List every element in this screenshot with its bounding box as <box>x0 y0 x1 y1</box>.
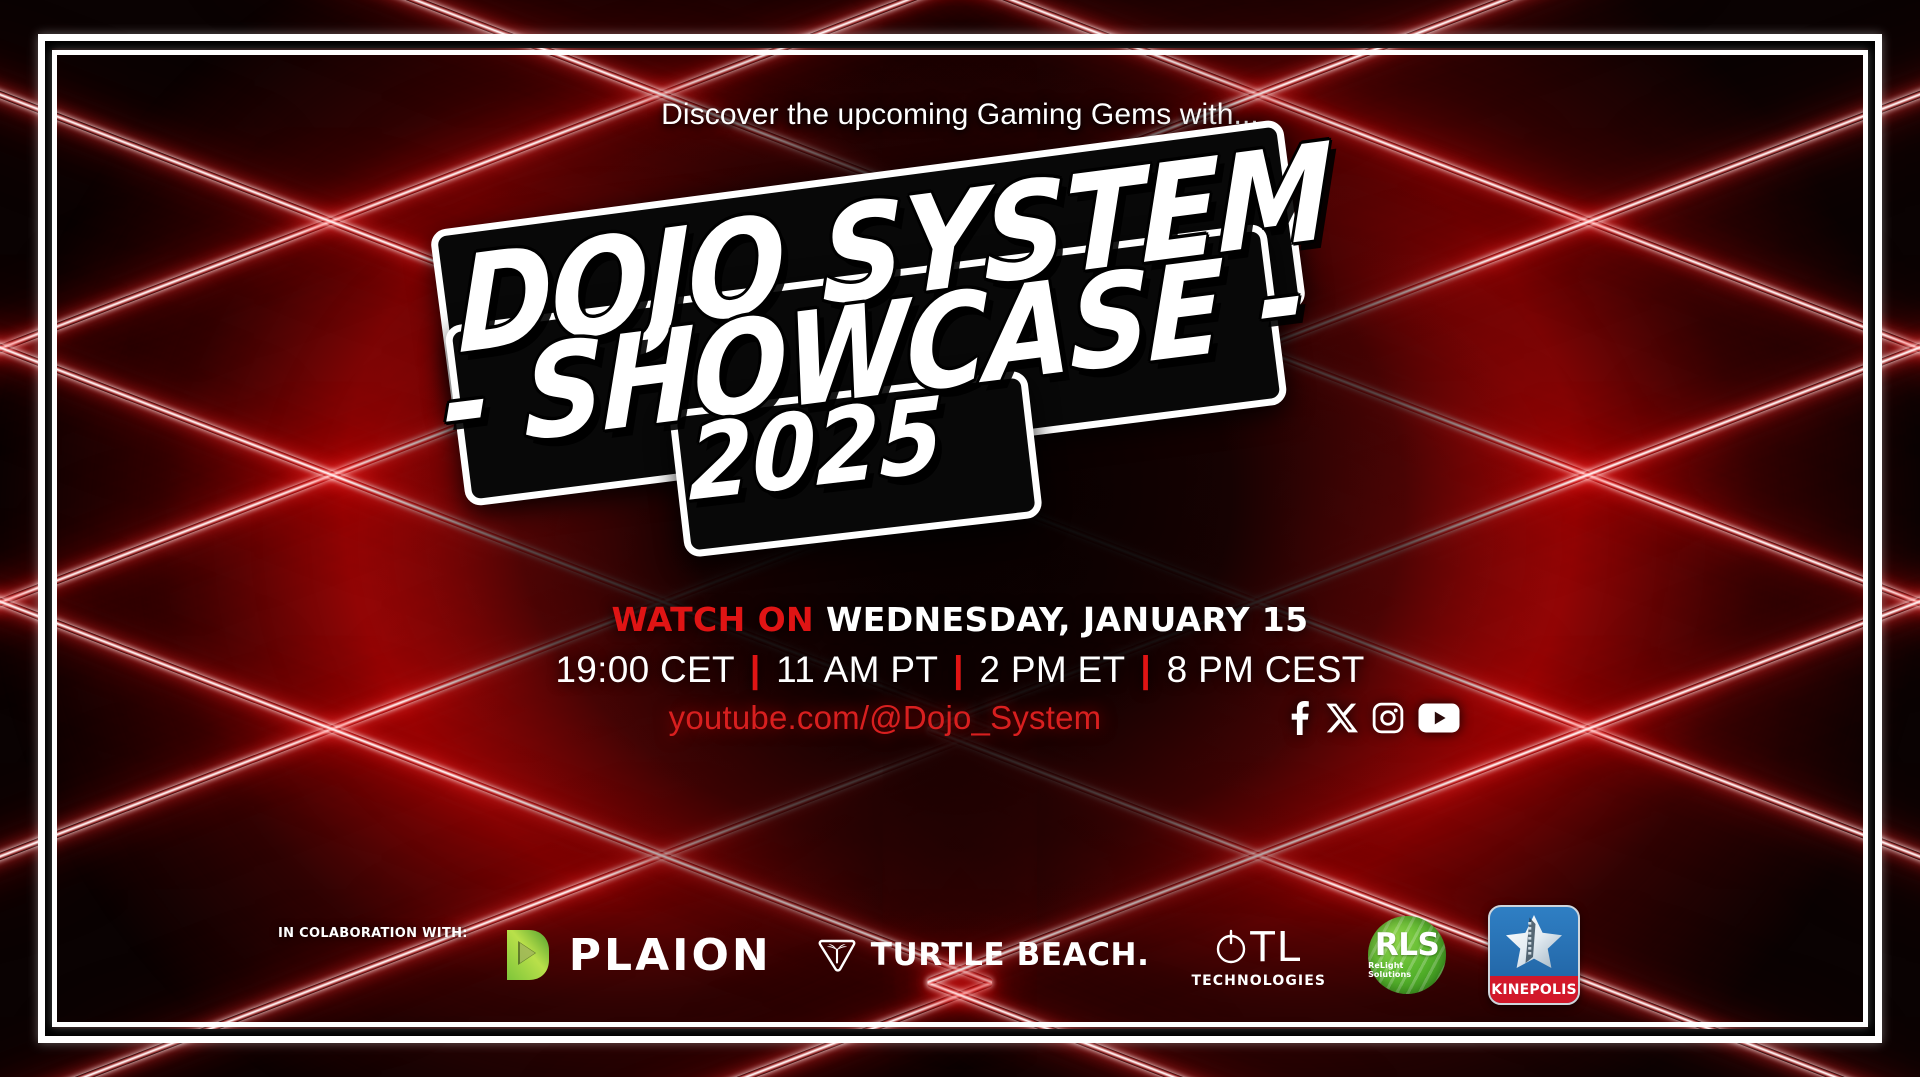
turtle-beach-wordmark: TURTLE BEACH. <box>871 937 1150 973</box>
tagline: Discover the upcoming Gaming Gems with..… <box>661 98 1259 132</box>
time-separator-3: | <box>1135 649 1156 690</box>
poster-stage: Discover the upcoming Gaming Gems with..… <box>0 0 1920 1077</box>
partner-logos: PLAION TURTLE BEACH. <box>498 905 1580 1005</box>
time-separator-2: | <box>948 649 969 690</box>
poster-content: Discover the upcoming Gaming Gems with..… <box>0 0 1920 1077</box>
instagram-icon[interactable] <box>1372 702 1404 734</box>
url-and-socials-row: youtube.com/@Dojo_System <box>430 699 1490 737</box>
time-et: 2 PM ET <box>979 649 1124 690</box>
kinepolis-name-bar: KINEPOLIS <box>1490 976 1578 1003</box>
watch-date: WEDNESDAY, JANUARY 15 <box>826 600 1309 639</box>
youtube-icon[interactable] <box>1418 703 1460 733</box>
watch-line: WATCH ON WEDNESDAY, JANUARY 15 <box>611 600 1308 639</box>
time-separator-1: | <box>745 649 766 690</box>
rls-subtitle: ReLight Solutions <box>1368 961 1446 979</box>
timezone-line: 19:00 CET | 11 AM PT | 2 PM ET | 8 PM CE… <box>555 649 1364 691</box>
kinepolis-star-icon <box>1503 913 1565 971</box>
collaboration-heading: IN COLABORATION WITH: <box>278 926 468 941</box>
partner-logo-plaion[interactable]: PLAION <box>498 927 772 983</box>
time-cest: 8 PM CEST <box>1167 649 1365 690</box>
otl-letters: TL <box>1249 922 1302 972</box>
turtle-beach-mark-icon <box>814 932 860 978</box>
x-icon[interactable] <box>1326 702 1358 734</box>
partners-row: IN COLABORATION WITH: PLAION <box>0 905 1920 1005</box>
otl-subtitle: TECHNOLOGIES <box>1191 973 1326 989</box>
partner-logo-otl[interactable]: TL TECHNOLOGIES <box>1191 922 1326 989</box>
youtube-url-link[interactable]: youtube.com/@Dojo_System <box>669 699 1102 737</box>
rls-wordmark: RLS <box>1375 931 1439 960</box>
partner-logo-turtle-beach[interactable]: TURTLE BEACH. <box>814 932 1150 978</box>
watch-prefix: WATCH ON <box>611 600 814 639</box>
plaion-mark-icon <box>498 927 552 983</box>
kinepolis-wordmark: KINEPOLIS <box>1491 982 1577 998</box>
time-cet: 19:00 CET <box>555 649 734 690</box>
otl-power-o-icon <box>1215 925 1247 969</box>
social-icons <box>1286 701 1460 735</box>
kinepolis-star-area <box>1490 907 1578 976</box>
partner-logo-kinepolis[interactable]: KINEPOLIS <box>1488 905 1580 1005</box>
partner-logo-rls[interactable]: RLS ReLight Solutions <box>1368 916 1446 994</box>
otl-top-row: TL <box>1215 922 1302 972</box>
event-logo: DOJO SYSTEM - SHOWCASE - 2025 <box>430 146 1490 566</box>
logo-line-3: 2025 <box>688 383 943 516</box>
time-pt: 11 AM PT <box>776 649 937 690</box>
plaion-wordmark: PLAION <box>569 930 772 981</box>
facebook-icon[interactable] <box>1286 701 1312 735</box>
